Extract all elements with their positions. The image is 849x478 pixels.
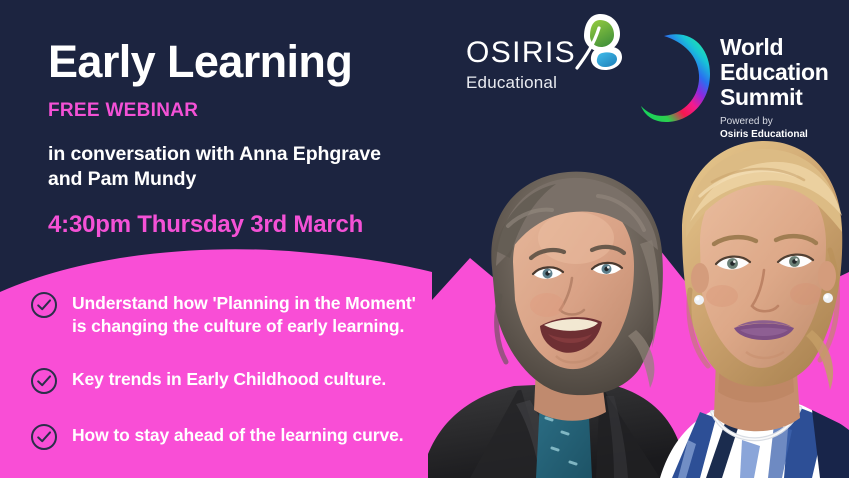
osiris-butterfly-icon — [570, 10, 624, 72]
speakers-line: in conversation with Anna Ephgrave and P… — [48, 142, 468, 192]
wes-logo-wordmark: World Education Summit Powered by Osiris… — [720, 28, 828, 142]
pam-mundy-photo — [660, 141, 849, 478]
check-circle-icon — [30, 291, 58, 319]
page-title: Early Learning — [48, 38, 468, 86]
osiris-educational-logo: OSIRIS Educational — [466, 34, 576, 91]
list-item-text: How to stay ahead of the learning curve. — [72, 422, 404, 447]
wes-crescent-icon — [640, 28, 712, 126]
free-webinar-badge: FREE WEBINAR — [48, 100, 468, 122]
speakers-line-2: and Pam Mundy — [48, 168, 196, 190]
osiris-logo-name: OSIRIS — [466, 38, 576, 68]
list-item-text: Understand how 'Planning in the Moment' … — [72, 290, 416, 339]
headline-block: Early Learning FREE WEBINAR in conversat… — [48, 38, 468, 239]
wes-line-1: World — [720, 34, 783, 60]
list-item: Understand how 'Planning in the Moment' … — [30, 290, 470, 339]
wes-powered-label: Powered by — [720, 116, 773, 127]
osiris-logo-wordmark: OSIRIS Educational — [466, 34, 576, 91]
osiris-logo-subtitle: Educational — [466, 74, 576, 91]
wes-powered-by: Powered by Osiris Educational — [720, 116, 828, 142]
wes-title: World Education Summit — [720, 35, 828, 109]
wes-line-2: Education — [720, 59, 828, 85]
event-datetime: 4:30pm Thursday 3rd March — [48, 211, 468, 239]
list-item: Key trends in Early Childhood culture. — [30, 366, 470, 395]
check-circle-icon — [30, 423, 58, 451]
check-circle-icon — [30, 367, 58, 395]
webinar-promo-banner: Early Learning FREE WEBINAR in conversat… — [0, 0, 849, 478]
world-education-summit-logo: World Education Summit Powered by Osiris… — [640, 28, 828, 142]
bullet-1-line-1: Understand how 'Planning in the Moment' — [72, 293, 416, 313]
wes-powered-brand: Osiris Educational — [720, 129, 808, 140]
bullet-3-line-1: How to stay ahead of the learning curve. — [72, 425, 404, 445]
benefits-list: Understand how 'Planning in the Moment' … — [30, 290, 470, 451]
speakers-line-1: in conversation with Anna Ephgrave — [48, 143, 381, 165]
bullet-1-line-2: is changing the culture of early learnin… — [72, 316, 404, 336]
list-item-text: Key trends in Early Childhood culture. — [72, 366, 386, 391]
wes-line-3: Summit — [720, 84, 803, 110]
list-item: How to stay ahead of the learning curve. — [30, 422, 470, 451]
bullet-2-line-1: Key trends in Early Childhood culture. — [72, 369, 386, 389]
